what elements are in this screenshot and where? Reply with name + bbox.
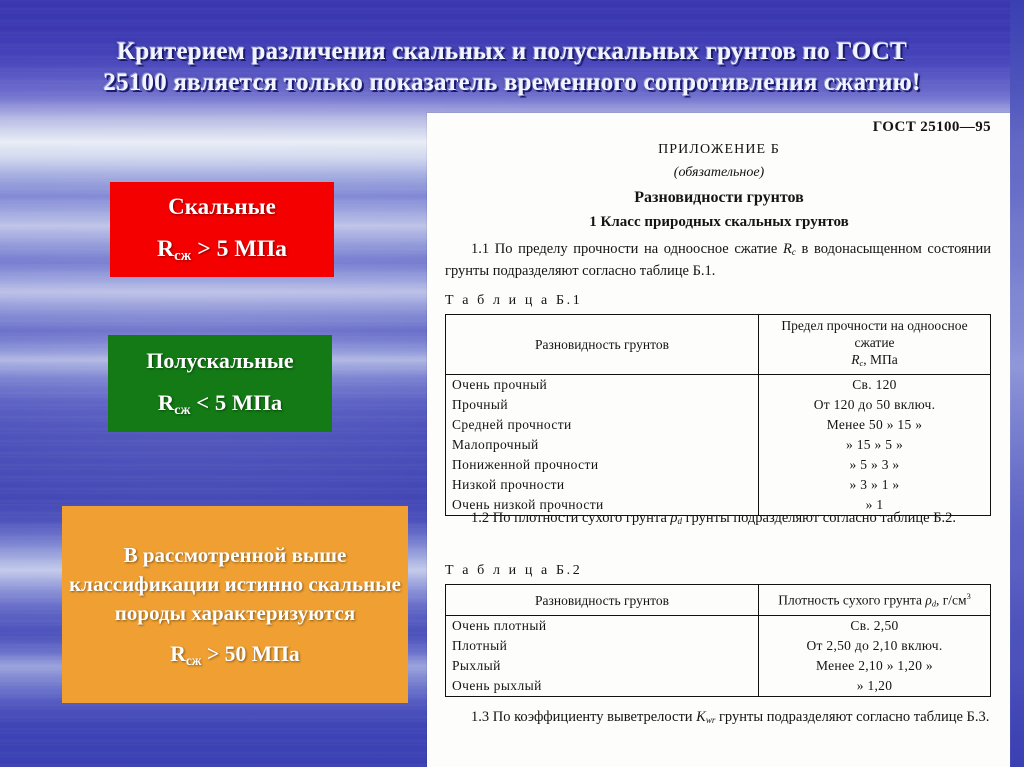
callout-rock-sub: сж [174, 248, 191, 264]
table-b2-header-density: Плотность сухого грунта ρd, г/см3 [759, 585, 991, 616]
table-b2-body: Очень плотныйСв. 2,50 ПлотныйОт 2,50 до … [446, 616, 991, 697]
table-b2: Разновидность грунтов Плотность сухого г… [445, 584, 991, 697]
table-row: Очень плотныйСв. 2,50 [446, 616, 991, 637]
table-b2-cell-name: Очень плотный [446, 616, 759, 637]
callout-semirock-r: R [158, 390, 174, 415]
table-b1: Разновидность грунтов Предел прочности н… [445, 314, 991, 516]
table-row: ПлотныйОт 2,50 до 2,10 включ. [446, 636, 991, 656]
table-row: Малопрочный» 15 » 5 » [446, 435, 991, 455]
callout-rock-label: Скальные [168, 194, 276, 220]
scanned-document: ГОСТ 25100—95 ПРИЛОЖЕНИЕ Б (обязательное… [427, 113, 1011, 767]
callout-rock-value: Rсж > 5 МПа [157, 236, 287, 265]
callout-semirock-rest: < 5 МПа [191, 390, 283, 415]
callout-rock-rest: > 5 МПа [191, 236, 287, 262]
table-row: Пониженной прочности» 5 » 3 » [446, 455, 991, 475]
table-b2-cell-value: » 1,20 [759, 676, 991, 697]
table-row: Средней прочностиМенее 50 » 15 » [446, 415, 991, 435]
table-b2-cell-name: Плотный [446, 636, 759, 656]
document-heading-1: Разновидности грунтов [427, 189, 1011, 207]
table-b2-cell-name: Очень рыхлый [446, 676, 759, 697]
table-b1-body: Очень прочныйСв. 120 ПрочныйОт 120 до 50… [446, 375, 991, 516]
table-2-caption: Т а б л и ц а Б.2 [445, 563, 582, 579]
table-b1-header-row: Разновидность грунтов Предел прочности н… [446, 315, 991, 375]
slide-canvas: Критерием различения скальных и полускал… [0, 0, 1024, 767]
table-b2-cell-value: Св. 2,50 [759, 616, 991, 637]
table-b2-header-kind: Разновидность грунтов [446, 585, 759, 616]
callout-rock-r: R [157, 236, 174, 262]
table-row: Очень прочныйСв. 120 [446, 375, 991, 396]
document-appendix-label: ПРИЛОЖЕНИЕ Б [427, 142, 1011, 158]
callout-note: В рассмотренной выше классификации истин… [62, 506, 408, 703]
table-b2-cell-value: От 2,50 до 2,10 включ. [759, 636, 991, 656]
table-b2-cell-value: Менее 2,10 » 1,20 » [759, 656, 991, 676]
table-b1-header-strength: Предел прочности на одноосное сжатиеRc, … [759, 315, 991, 375]
right-edge-strip [1010, 0, 1024, 767]
document-clause-1-1: 1.1 По пределу прочности на одноосное сж… [445, 240, 991, 281]
table-b2-header-row: Разновидность грунтов Плотность сухого г… [446, 585, 991, 616]
table-b1-cell-name: Малопрочный [446, 435, 759, 455]
slide-title: Критерием различения скальных и полускал… [0, 36, 1024, 98]
table-row: ПрочныйОт 120 до 50 включ. [446, 395, 991, 415]
document-clause-1-3: 1.3 По коэффициенту выветрелости Kwr гру… [445, 708, 991, 730]
table-b1-cell-value: Св. 120 [759, 375, 991, 396]
callout-semirock-label: Полускальные [146, 348, 293, 374]
table-b1-cell-name: Низкой прочности [446, 475, 759, 495]
table-b1-cell-value: » 3 » 1 » [759, 475, 991, 495]
table-row: Низкой прочности» 3 » 1 » [446, 475, 991, 495]
table-row: Очень рыхлый» 1,20 [446, 676, 991, 697]
table-b1-cell-value: От 120 до 50 включ. [759, 395, 991, 415]
table-b1-cell-value: Менее 50 » 15 » [759, 415, 991, 435]
callout-note-sub: сж [186, 652, 202, 667]
callout-semirock: Полускальные Rсж < 5 МПа [108, 335, 332, 432]
callout-rock: Скальные Rсж > 5 МПа [110, 182, 334, 277]
callout-note-value: Rсж > 50 МПа [170, 642, 300, 669]
callout-note-r: R [170, 642, 186, 666]
callout-semirock-sub: сж [174, 402, 190, 418]
table-b1-cell-name: Прочный [446, 395, 759, 415]
callout-semirock-value: Rсж < 5 МПа [158, 390, 282, 419]
table-b1-cell-name: Средней прочности [446, 415, 759, 435]
table-b1-cell-value: » 5 » 3 » [759, 455, 991, 475]
document-standard-ref: ГОСТ 25100—95 [873, 119, 991, 136]
document-clause-1-2: 1.2 По плотности сухого грунта ρd грунты… [445, 509, 991, 531]
table-1-caption: Т а б л и ц а Б.1 [445, 293, 582, 309]
callout-note-rest: > 50 МПа [202, 642, 300, 666]
table-b1-header-kind: Разновидность грунтов [446, 315, 759, 375]
table-b1-cell-value: » 15 » 5 » [759, 435, 991, 455]
table-row: РыхлыйМенее 2,10 » 1,20 » [446, 656, 991, 676]
table-b2-cell-name: Рыхлый [446, 656, 759, 676]
table-b1-cell-name: Очень прочный [446, 375, 759, 396]
document-heading-2: 1 Класс природных скальных грунтов [427, 214, 1011, 231]
table-b1-cell-name: Пониженной прочности [446, 455, 759, 475]
document-obligatory-label: (обязательное) [427, 165, 1011, 181]
callout-note-text: В рассмотренной выше классификации истин… [62, 541, 408, 628]
